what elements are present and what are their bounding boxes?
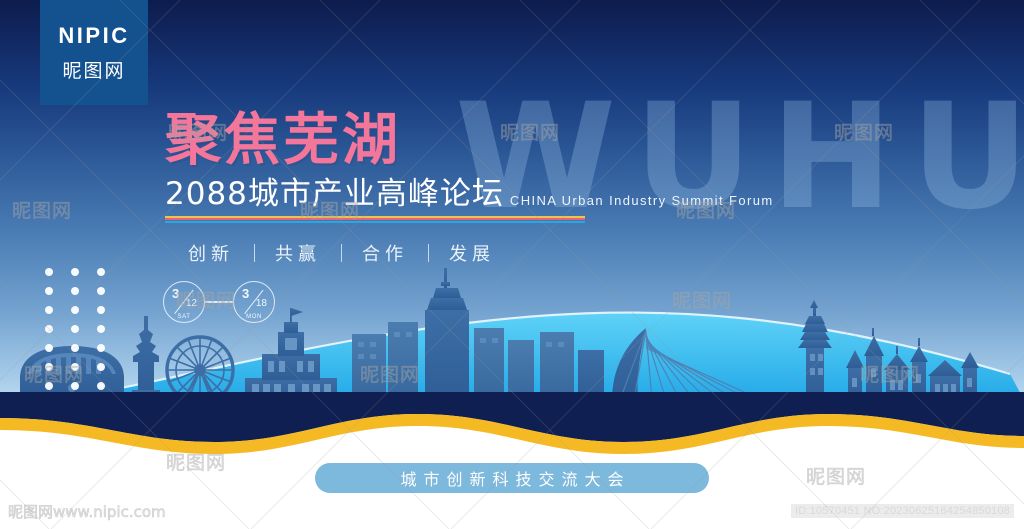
english-subtitle: CHINA Urban Industry Summit Forum (510, 193, 774, 211)
logo-text-en: NIPIC (58, 23, 129, 49)
footer-site-cn: 昵图网 (8, 503, 53, 521)
asset-id-label: ID:10570451 NO:20230625164254850108 (791, 504, 1014, 518)
date-day: 12 (186, 298, 197, 309)
dot (97, 306, 105, 314)
keyword-item: 发展 (429, 240, 515, 266)
nipic-logo: NIPIC 昵图网 (40, 0, 148, 105)
headline-block: 聚焦芜湖 2088城市产业高峰论坛 CHINA Urban Industry S… (165, 112, 774, 223)
logo-text-cn: 昵图网 (62, 56, 125, 83)
dot (71, 287, 79, 295)
watermark-text: 昵图网 (806, 462, 866, 489)
bottom-banner-pill: 城市创新科技交流大会 (315, 463, 709, 493)
dot (97, 363, 105, 371)
date-month: 3 (172, 286, 179, 301)
stripe-cyan (165, 221, 585, 223)
dot (71, 382, 79, 390)
main-title: 聚焦芜湖 (165, 112, 774, 171)
keyword-row: 创新 共赢 合作 发展 (168, 240, 515, 266)
dot (45, 344, 53, 352)
footer-bar: 昵图网www.nipic.com ID:10570451 NO:20230625… (0, 498, 1024, 529)
dot (71, 363, 79, 371)
date-badge-start: 3 12 SAT (163, 281, 205, 323)
dot (97, 287, 105, 295)
date-weekday: MON (234, 314, 274, 320)
poster-canvas: WUHU (0, 0, 1024, 529)
dot (71, 325, 79, 333)
date-badge-end: 3 18 MON (233, 281, 275, 323)
dot (71, 306, 79, 314)
accent-stripe (165, 216, 585, 223)
dot (71, 268, 79, 276)
keyword-item: 共赢 (255, 240, 341, 266)
date-connector (205, 301, 233, 302)
dot (97, 382, 105, 390)
date-month: 3 (242, 286, 249, 301)
dot (97, 325, 105, 333)
decorative-dot-grid (45, 268, 110, 400)
city-skyline-illustration (0, 250, 1024, 400)
dot (45, 306, 53, 314)
keyword-item: 创新 (168, 240, 254, 266)
date-weekday: SAT (164, 314, 204, 320)
dot (45, 363, 53, 371)
dot (97, 268, 105, 276)
stripe-pink (165, 218, 585, 220)
keyword-item: 合作 (342, 240, 428, 266)
footer-site-url: www.nipic.com (53, 503, 166, 521)
dot (71, 344, 79, 352)
dot (45, 287, 53, 295)
dot (45, 325, 53, 333)
dot (45, 268, 53, 276)
hero-stage: WUHU (0, 0, 1024, 400)
date-range: 3 12 SAT 3 18 MON (163, 281, 275, 323)
footer-site-label: 昵图网www.nipic.com (8, 501, 166, 522)
date-day: 18 (256, 298, 267, 309)
navy-wave-band (0, 392, 1024, 458)
sub-title: 2088城市产业高峰论坛 (165, 177, 504, 211)
dot (45, 382, 53, 390)
dot (97, 344, 105, 352)
